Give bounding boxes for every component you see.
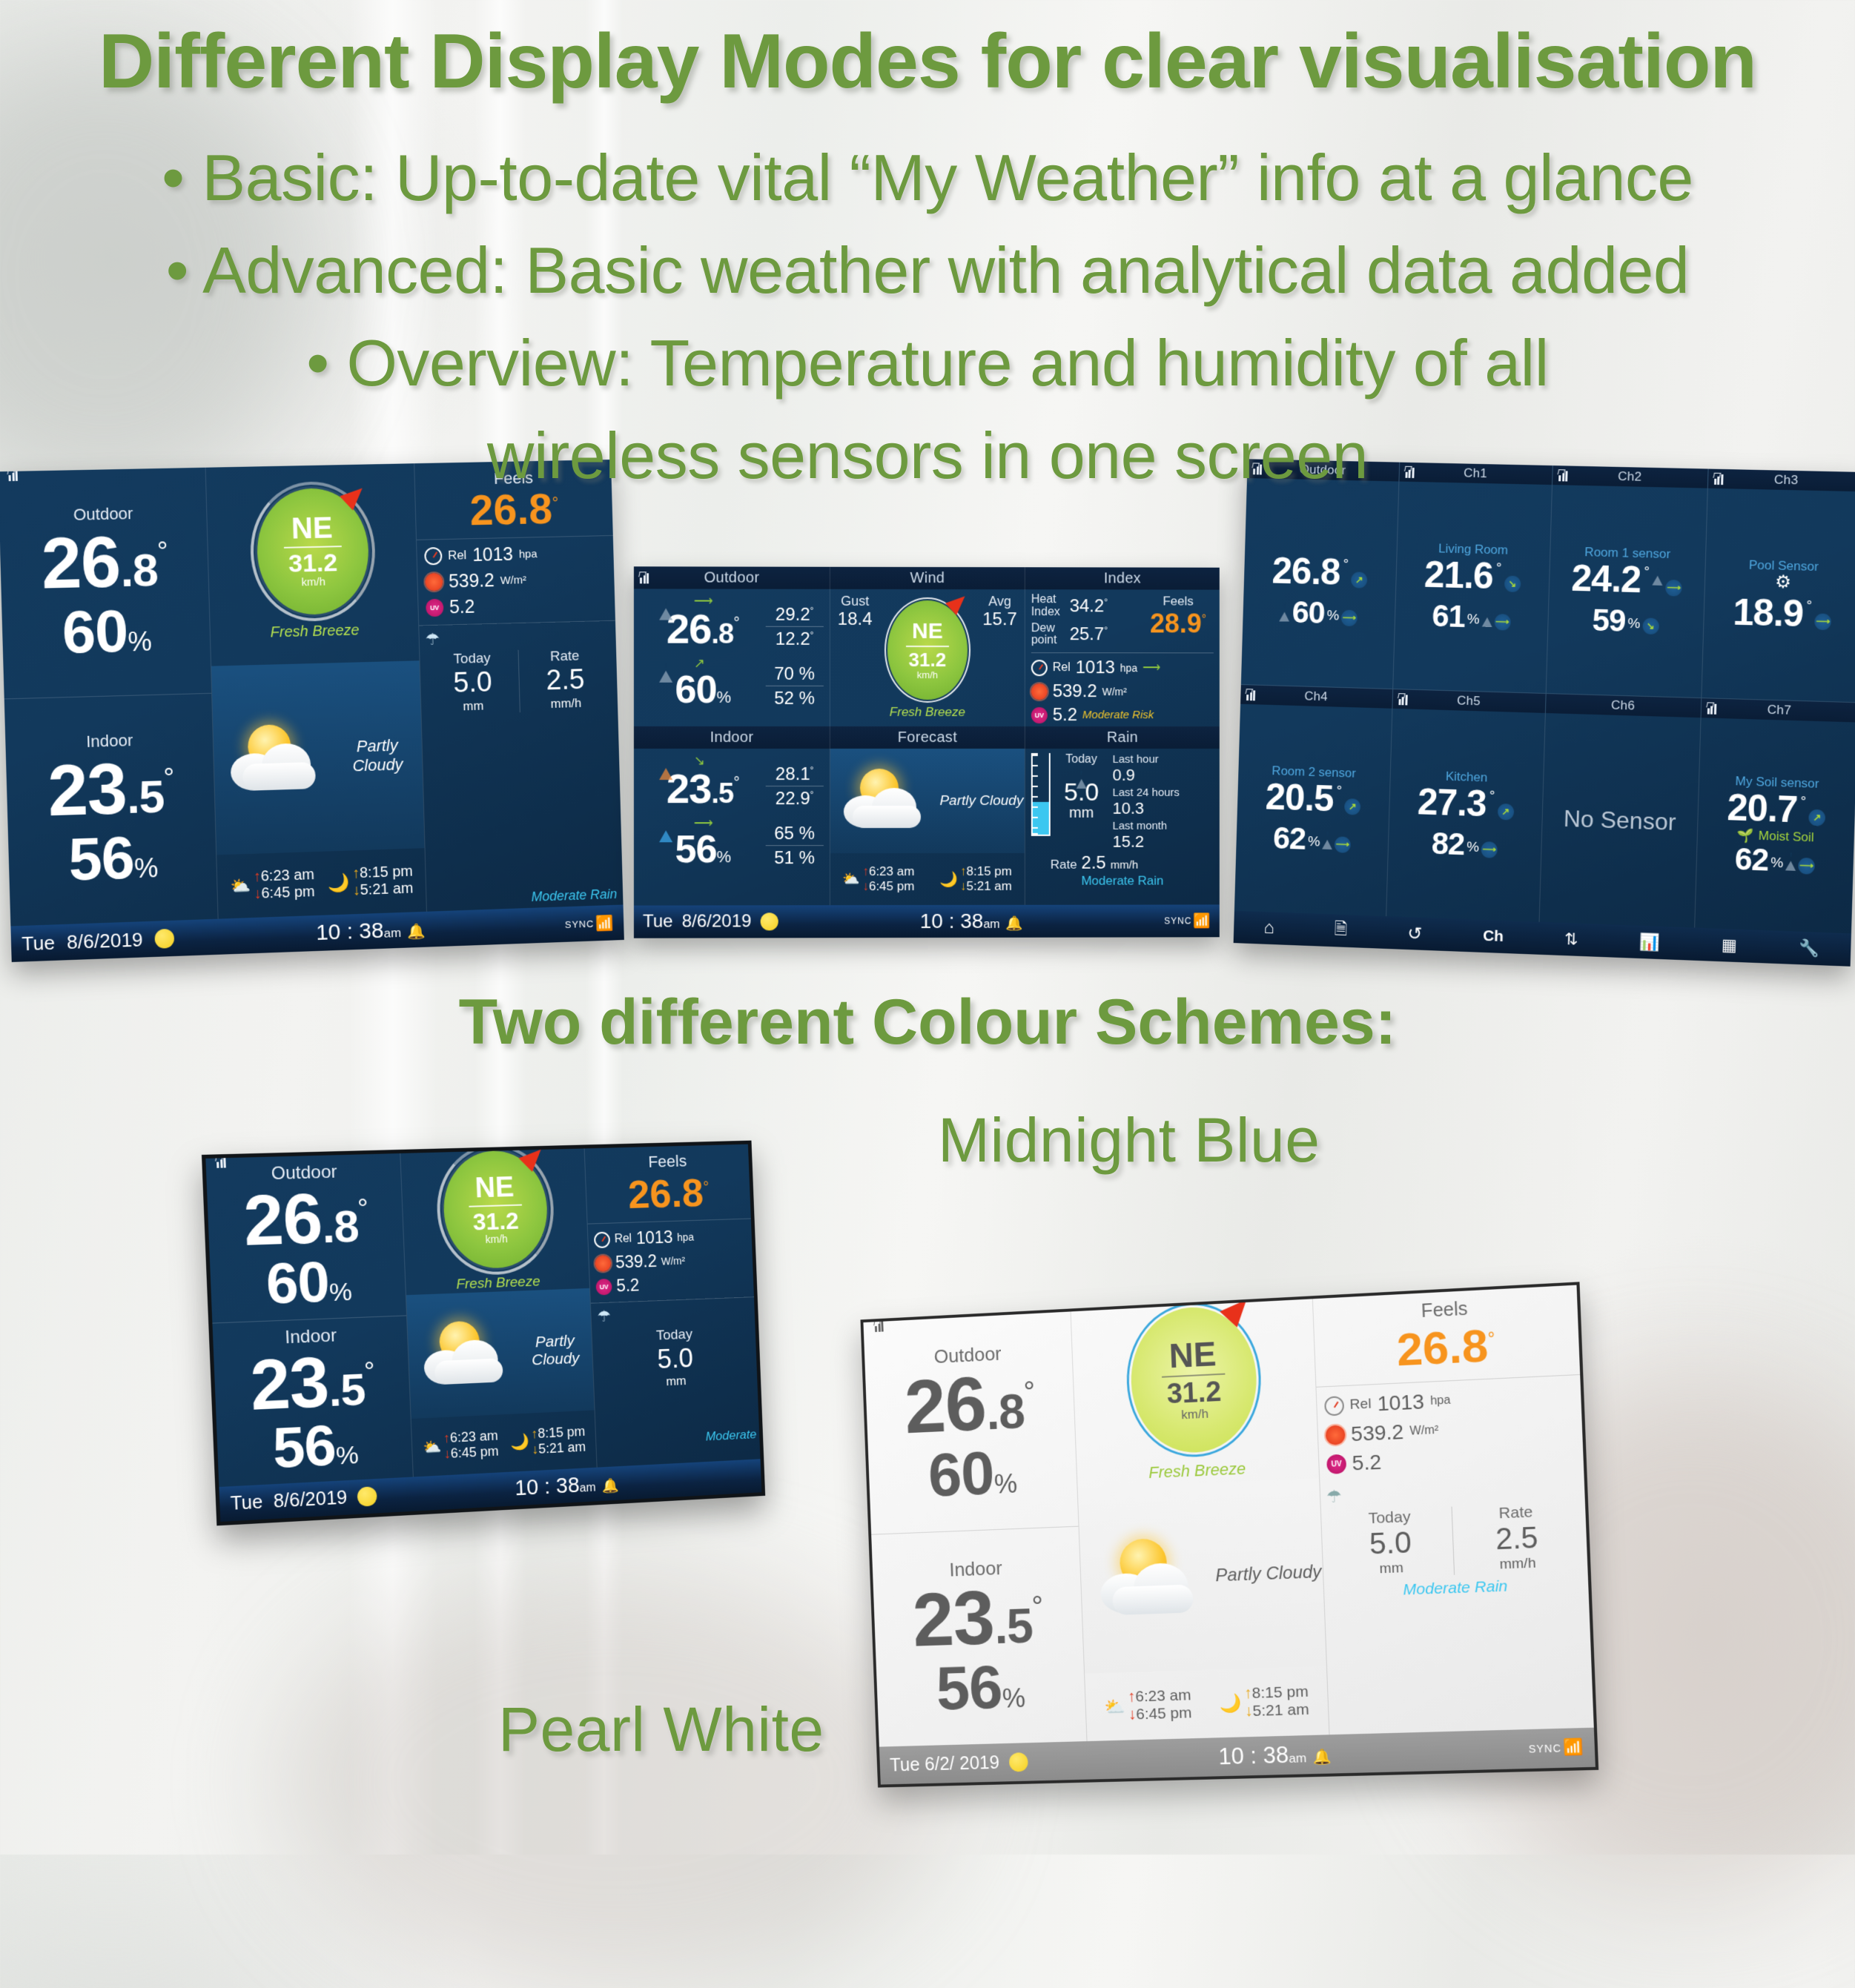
dew-point-label: Dew point	[1031, 623, 1065, 648]
alarm-icon[interactable]: 🔔	[601, 1478, 619, 1494]
arrow-down-icon: ↓	[352, 882, 360, 898]
barometer-icon	[594, 1231, 610, 1248]
sunrise-time: 6:23 am	[869, 864, 914, 878]
tile-humidity: 82	[1431, 828, 1465, 860]
panel-title: Rain	[1107, 729, 1138, 746]
outdoor-temp-int: 26	[40, 522, 121, 603]
solar-icon	[1031, 683, 1048, 700]
panel-title: Index	[1104, 570, 1141, 587]
status-time: 10 : 38am 🔔	[174, 912, 566, 951]
panel-title: Wind	[910, 569, 945, 586]
panel-header-index: Index	[1025, 567, 1220, 589]
panel-wind: Gust 18.4 Avg 15.7 NE 31.2 km/h	[830, 589, 1025, 726]
uv-value: 5.2	[1053, 705, 1077, 726]
panel-title: Indoor	[710, 729, 754, 746]
moon-times: 🌙 ↑8:15 pm ↓5:21 am	[509, 1424, 586, 1459]
sensor-tile-ch4[interactable]: Ch4 Room 2 sensor 20.5 ° ↗ 62 % ! ⟶	[1234, 685, 1393, 916]
bullet-overview-cont: wireless sensors in one screen	[0, 410, 1855, 503]
outdoor-hum-unit: %	[128, 626, 151, 657]
history-search-icon[interactable]: 🗎	[1334, 917, 1348, 945]
sunrise-time: 6:23 am	[1135, 1686, 1191, 1705]
sunset-time: 6:45 pm	[869, 879, 914, 893]
rain-today-value: 5.0	[1328, 1525, 1454, 1563]
moonrise-time: 8:15 pm	[1251, 1683, 1309, 1702]
hum-value: 56	[675, 828, 716, 871]
moonrise-time: 8:15 pm	[360, 864, 413, 881]
outdoor-humidity: 60%	[927, 1440, 1017, 1505]
mb-middle-column: NE 31.2 km/h Fresh Breeze Partly Cloudy	[401, 1148, 598, 1477]
degree-symbol: °	[1644, 564, 1650, 580]
rain-description: Moderate Rain	[531, 887, 617, 905]
pressure-unit: hpa	[519, 548, 538, 560]
moon-phase-icon	[1009, 1752, 1028, 1772]
pw-right-column: Feels 26.8° Rel 1013 hpa 539.2 W/m²	[1313, 1285, 1594, 1735]
uv-icon: UV	[426, 599, 443, 617]
arrow-up-icon: ↑	[352, 865, 360, 881]
midnight-screen: Outdoor 26.8° 60% Indoor 23.5° 56%	[205, 1144, 761, 1522]
indoor-temp-low: 22.9°	[766, 786, 824, 809]
outdoor-hum-value: 60	[62, 597, 129, 666]
time-hours: 10	[920, 909, 943, 932]
sun-times: ⛅ ↑6:23 am ↓6:45 pm	[1104, 1686, 1192, 1724]
background-blob-bottom	[282, 1573, 949, 1988]
uv-value: 5.2	[616, 1276, 640, 1296]
wind-dial[interactable]: NE 31.2 km/h	[1128, 1305, 1259, 1456]
advanced-screen: Outdoor Wind Index ! ⟶ 26.8°	[634, 566, 1220, 938]
trend-up-icon: ↗	[1808, 809, 1825, 826]
avg-value: 15.7	[982, 609, 1017, 630]
uv-value: 5.2	[449, 597, 475, 619]
panel-title: Outdoor	[704, 569, 760, 586]
rain-last-month-value: 15.2	[1112, 832, 1213, 852]
arrow-down-icon: ↓	[960, 879, 966, 893]
forecast-description: Partly Cloudy	[332, 735, 422, 776]
degree-symbol: °	[1031, 1590, 1043, 1623]
status-day: Tue	[643, 912, 673, 932]
tile-channel: Ch4	[1304, 689, 1328, 704]
moon-phase-icon	[154, 929, 174, 949]
basic-middle-column: NE 31.2 km/h Fresh Breeze Partly Cloudy	[206, 463, 427, 918]
pressure-prefix: Rel	[614, 1232, 632, 1246]
temp-int: 23	[667, 765, 712, 812]
status-date: 8/6/2019	[273, 1487, 348, 1513]
trend-steady-icon: ⟶	[1494, 614, 1511, 631]
indoor-humidity: 56%	[67, 826, 158, 889]
sunset-time: 6:45 pm	[450, 1444, 499, 1461]
alarm-icon[interactable]: 🔔	[1312, 1749, 1332, 1766]
heat-index-label: Heat Index	[1031, 594, 1065, 619]
indoor-temperature: 23.5°	[47, 752, 175, 827]
alert-icon: !	[1785, 848, 1796, 862]
pressure-value: 1013	[472, 544, 514, 566]
display-overview-mode: Outdoor 26.8 ° ↗ ! 60 % ⟶	[1234, 459, 1855, 967]
indoor-label: Indoor	[86, 731, 133, 752]
rain-rate-unit: mm/h	[520, 695, 612, 712]
label-pearl-white: Pearl White	[498, 1694, 824, 1766]
trend-steady-icon: ⟶	[1798, 857, 1815, 874]
degree-symbol: °	[1489, 789, 1495, 805]
solar-value: 539.2	[1053, 681, 1097, 702]
uv-icon: UV	[596, 1278, 612, 1295]
rain-today-label: Today	[1055, 753, 1108, 766]
outdoor-hum-high: 70 %	[766, 664, 824, 686]
degree-symbol: °	[1800, 794, 1806, 810]
status-date: 8/6/2019	[682, 911, 752, 932]
sunrise-time: 6:23 am	[260, 867, 314, 884]
outdoor-humidity: 60%	[265, 1253, 351, 1313]
trend-steady-icon: ⟶	[1341, 609, 1358, 626]
alert-icon: !	[659, 755, 672, 769]
alert-icon: !	[659, 595, 672, 609]
rain-last24-value: 10.3	[1112, 799, 1213, 818]
time-minutes: 38	[960, 909, 983, 932]
wind-dial-ring	[1124, 1300, 1264, 1460]
wind-description: Fresh Breeze	[890, 705, 965, 720]
time-ampm: am	[1289, 1751, 1306, 1766]
settings-icon[interactable]: 🔧	[1799, 938, 1820, 958]
sunset-time: 6:45 pm	[1136, 1704, 1192, 1723]
tile-humidity: 61	[1432, 600, 1466, 632]
pressure-unit: hpa	[1430, 1394, 1451, 1408]
sensor-tile-ch3[interactable]: Ch3 Pool Sensor ⚙ 18.9 ° ⟶	[1702, 469, 1855, 703]
pressure-prefix: Rel	[1349, 1396, 1372, 1413]
panel-title: Forecast	[898, 729, 957, 746]
bullet-overview: • Overview: Temperature and humidity of …	[0, 317, 1855, 410]
sunrise-sunset-icon: ⛅	[1104, 1696, 1125, 1717]
heat-index-value: 34.2°	[1070, 596, 1108, 617]
degree-symbol: °	[1023, 1375, 1035, 1408]
outdoor-label: Outdoor	[73, 503, 133, 524]
moonrise-time: 8:15 pm	[538, 1424, 586, 1441]
pw-left-column: Outdoor 26.8° 60% Indoor 23.5° 56%	[863, 1311, 1087, 1746]
tile-humidity-unit: %	[1467, 612, 1479, 628]
time-separator: :	[1250, 1743, 1257, 1769]
sensor-tile-ch6[interactable]: Ch6 No Sensor	[1540, 694, 1702, 928]
solar-unit: W/m²	[1102, 686, 1127, 698]
time-minutes: 38	[555, 1473, 580, 1497]
moonset-time: 5:21 am	[967, 879, 1012, 893]
status-date: Tue 6/2/ 2019	[890, 1752, 1000, 1776]
degree-symbol: °	[1806, 597, 1812, 614]
rain-description: Moderate Rain	[1330, 1575, 1583, 1602]
panel-outdoor: ! ⟶ 26.8° 29.2° 12.2°	[634, 589, 830, 726]
wifi-icon: 📶	[595, 913, 614, 932]
sunrise-time: 6:23 am	[450, 1428, 499, 1445]
channel-button[interactable]: Ch	[1483, 927, 1504, 946]
trend-down-icon: ↘	[1642, 617, 1659, 634]
degree-symbol: °	[733, 614, 739, 632]
minmax-icon[interactable]: ⇅	[1564, 930, 1578, 950]
alert-icon: !	[1653, 563, 1664, 576]
partly-cloudy-icon	[220, 712, 334, 805]
trend-up-icon: ↗	[1344, 798, 1360, 815]
tile-temperature: 20.5	[1265, 778, 1334, 818]
feels-value: 28.9°	[1143, 609, 1214, 638]
alert-icon: !	[659, 657, 672, 671]
hum-unit: %	[717, 688, 731, 706]
arrow-down-icon: ↓	[862, 879, 869, 893]
tile-channel: Ch7	[1767, 703, 1791, 718]
umbrella-icon: ☂	[597, 1302, 749, 1326]
overview-screen: Outdoor 26.8 ° ↗ ! 60 % ⟶	[1234, 459, 1855, 967]
moon-times: 🌙 ↑8:15 pm ↓5:21 am	[1219, 1683, 1309, 1722]
pw-middle-column: NE 31.2 km/h Fresh Breeze Partly Cloudy	[1071, 1299, 1330, 1741]
display-basic-mode: Outdoor 26.8° 60% Indoor 23.5° 56%	[0, 460, 624, 962]
graph-icon[interactable]: 📊	[1639, 932, 1660, 952]
alert-icon: !	[1077, 766, 1087, 780]
pool-sensor-icon: ⚙	[1775, 573, 1792, 592]
outdoor-temperature: 26.8°	[40, 526, 168, 600]
degree-symbol: °	[363, 1356, 374, 1386]
outdoor-temp-high: 29.2°	[766, 605, 824, 627]
status-date: 8/6/2019	[67, 928, 143, 954]
tile-temperature: 21.6	[1424, 555, 1493, 594]
pressure-value: 1013	[1076, 657, 1115, 678]
indoor-temperature: 23.5°	[911, 1577, 1044, 1657]
pressure-prefix: Rel	[1053, 661, 1071, 675]
marketing-copy-block: Different Display Modes for clear visual…	[0, 0, 1855, 503]
pressure-prefix: Rel	[448, 549, 467, 563]
wind-description: Fresh Breeze	[1148, 1459, 1246, 1483]
tile-humidity-unit: %	[1326, 608, 1339, 624]
tile-humidity-unit: %	[1770, 855, 1784, 872]
sunrise-sunset-icon: ⛅	[423, 1437, 442, 1457]
indoor-temp-int: 23	[47, 749, 128, 831]
trend-steady-icon: ⟶	[1335, 836, 1351, 853]
outdoor-temp-low: 12.2°	[766, 627, 824, 650]
degree-symbol: °	[357, 1193, 368, 1224]
section-title-colour-schemes: Two different Colour Schemes:	[0, 986, 1855, 1059]
tile-channel: Ch5	[1457, 693, 1481, 709]
forecast-description: Partly Cloudy	[518, 1331, 592, 1370]
solar-value: 539.2	[615, 1251, 657, 1273]
outdoor-temperature: 26.8°	[242, 1182, 369, 1257]
tile-humidity: 62	[1273, 823, 1306, 855]
alert-icon: !	[1482, 604, 1492, 617]
tile-channel: Ch6	[1611, 698, 1636, 714]
sunrise-sunset-icon: ⛅	[230, 876, 251, 896]
wifi-icon: 📶	[1564, 1738, 1584, 1757]
degree-symbol: °	[1496, 560, 1502, 577]
bullet-basic: • Basic: Up-to-date vital “My Weather” i…	[0, 132, 1855, 225]
solar-icon	[425, 573, 443, 591]
moon-icon: 🌙	[1219, 1692, 1242, 1714]
pearl-screen: Outdoor 26.8° 60% Indoor 23.5° 56%	[863, 1285, 1595, 1785]
time-hours: 10	[1218, 1743, 1245, 1769]
sync-label: SYNC	[1164, 915, 1191, 926]
moon-icon: 🌙	[939, 869, 958, 888]
forecast-description: Partly Cloudy	[1214, 1562, 1323, 1586]
indoor-hum-value: 56	[67, 824, 135, 892]
degree-symbol: °	[163, 762, 174, 793]
uv-risk-label: Moderate Risk	[1082, 709, 1154, 721]
sunrise-sunset-icon: ⛅	[843, 870, 861, 888]
tile-temperature: 26.8	[1272, 551, 1340, 590]
wind-description: Fresh Breeze	[270, 622, 359, 641]
moonset-time: 5:21 am	[1252, 1701, 1309, 1720]
solar-value: 539.2	[449, 570, 495, 592]
moon-icon: 🌙	[327, 872, 350, 894]
tile-humidity-unit: %	[1308, 834, 1320, 850]
barometer-icon	[1031, 660, 1048, 676]
time-ampm: am	[983, 918, 999, 931]
partly-cloudy-icon	[1088, 1526, 1217, 1630]
rain-rate-label: Rate	[1051, 858, 1077, 872]
basic-left-column: Outdoor 26.8° 60% Indoor 23.5° 56%	[0, 468, 219, 927]
display-advanced-mode: Outdoor Wind Index ! ⟶ 26.8°	[634, 566, 1220, 938]
panel-header-outdoor: Outdoor	[634, 566, 830, 589]
alert-icon: !	[1322, 827, 1332, 841]
home-icon[interactable]: ⌂	[1263, 918, 1274, 938]
moonset-time: 5:21 am	[360, 881, 413, 898]
tile-temperature: 24.2	[1571, 559, 1641, 597]
panel-header-indoor: Indoor	[634, 726, 830, 749]
trend-up-icon: ↗	[1351, 571, 1367, 588]
alert-icon: !	[1280, 599, 1290, 612]
rain-today-unit: mm	[1055, 805, 1108, 822]
panel-index: Heat Index 34.2° Dew point 25.7° Feels 2…	[1025, 589, 1220, 726]
temp-dec: .5	[711, 778, 733, 809]
pressure-unit: hpa	[677, 1230, 694, 1243]
indoor-temp-high: 28.1°	[766, 764, 824, 786]
rain-rate-unit: mm/h	[1111, 859, 1138, 872]
indoor-hum-unit: %	[133, 852, 157, 884]
gust-label: Gust	[838, 594, 873, 609]
time-hours: 10	[515, 1475, 539, 1500]
panel-header-rain: Rain	[1025, 726, 1220, 749]
feature-bullet-list: • Basic: Up-to-date vital “My Weather” i…	[0, 132, 1855, 503]
time-minutes: 38	[1263, 1742, 1289, 1769]
barometer-icon	[1324, 1396, 1344, 1416]
rain-last24-label: Last 24 hours	[1112, 786, 1213, 799]
rain-rate-value: 2.5	[519, 663, 612, 698]
sensor-tile-ch7[interactable]: Ch7 My Soil sensor 20.7 ° ↗ 🌱 Moist Soil…	[1695, 698, 1855, 933]
page-title: Different Display Modes for clear visual…	[0, 0, 1855, 101]
time-hours: 10	[316, 920, 341, 945]
time-separator: :	[346, 919, 353, 944]
rain-last-hour-label: Last hour	[1112, 753, 1213, 766]
pressure-unit: hpa	[1120, 662, 1137, 674]
degree-symbol: °	[703, 1179, 710, 1196]
solar-unit: W/m²	[661, 1254, 685, 1267]
wind-dial[interactable]: NE 31.2 km/h	[887, 600, 968, 700]
tile-no-sensor-label: No Sensor	[1563, 804, 1676, 835]
sun-times: ⛅ ↑6:23 am ↓6:45 pm	[843, 864, 915, 894]
mb-left-column: Outdoor 26.8° 60% Indoor 23.5° 56%	[205, 1153, 414, 1487]
indoor-humidity: 56%	[935, 1654, 1025, 1718]
label-midnight-blue: Midnight Blue	[938, 1104, 1320, 1176]
arrow-up-icon: ↑	[960, 864, 966, 878]
feels-temperature: 26.8°	[593, 1169, 744, 1219]
rain-today-value: 5.0	[426, 666, 520, 700]
refresh-icon[interactable]: ↺	[1407, 923, 1423, 945]
alarm-icon[interactable]: 🔔	[1005, 916, 1023, 932]
sync-label: SYNC	[565, 918, 595, 930]
tile-temperature: 18.9	[1733, 593, 1804, 632]
degree-symbol: °	[733, 774, 739, 792]
trend-steady-icon: ⟶	[1814, 613, 1831, 630]
time-ampm: am	[383, 926, 401, 941]
basic-screen: Outdoor 26.8° 60% Indoor 23.5° 56%	[0, 460, 624, 962]
indoor-temperature: 23.5°	[249, 1345, 376, 1421]
tile-humidity-unit: %	[1467, 839, 1479, 856]
uv-icon: UV	[1326, 1454, 1346, 1474]
sensor-tile-ch5[interactable]: Ch5 Kitchen 27.3 ° ↗ 82 % ⟶	[1386, 689, 1547, 922]
hum-value: 60	[675, 669, 716, 712]
tile-temperature: 20.7	[1727, 788, 1798, 827]
alarm-icon[interactable]: 🔔	[407, 924, 426, 941]
sun-times: ⛅ ↑6:23 am ↓6:45 pm	[423, 1428, 499, 1463]
trend-steady-icon: ⟶	[1665, 579, 1682, 596]
moon-times: 🌙 ↑8:15 pm ↓5:21 am	[939, 864, 1012, 894]
moon-phase-icon	[761, 912, 778, 930]
display-midnight-blue: Outdoor 26.8° 60% Indoor 23.5° 56%	[202, 1141, 765, 1526]
degree-symbol: °	[1343, 557, 1349, 573]
gust-value: 18.4	[838, 609, 873, 630]
sensor-grid: Outdoor 26.8 ° ↗ ! 60 % ⟶	[1234, 459, 1855, 933]
status-time: 10 : 38am 🔔	[1028, 1735, 1529, 1775]
uv-value: 5.2	[1352, 1451, 1382, 1476]
rain-description: Moderate	[705, 1427, 756, 1444]
wind-dial[interactable]: NE 31.2 km/h	[255, 487, 369, 615]
partly-cloudy-icon	[835, 762, 939, 839]
feels-label: Feels	[1143, 594, 1214, 609]
calendar-icon[interactable]: ▦	[1722, 935, 1738, 955]
degree-symbol: °	[1336, 783, 1342, 800]
hum-unit: %	[717, 847, 731, 866]
trend-steady-icon: ⟶	[1481, 841, 1498, 858]
sun-times: ⛅ ↑6:23 am ↓6:45 pm	[230, 867, 315, 904]
rain-today-unit: mm	[427, 698, 520, 715]
indoor-humidity: 56%	[271, 1416, 358, 1477]
moon-icon: 🌙	[510, 1434, 530, 1452]
moon-times: 🌙 ↑8:15 pm ↓5:21 am	[327, 864, 414, 901]
outdoor-temperature: 26.8°	[903, 1363, 1036, 1445]
trend-up-icon: ↗	[1498, 804, 1515, 821]
rain-last-month-label: Last month	[1112, 820, 1213, 832]
trend-steady-icon: ⟶	[1143, 660, 1160, 675]
wind-dial[interactable]: NE 31.2 km/h	[441, 1150, 549, 1270]
panel-header-forecast: Forecast	[830, 726, 1025, 749]
temp-dec: .8	[711, 619, 733, 650]
degree-symbol: °	[1487, 1329, 1495, 1349]
indoor-temp-dec: .5	[126, 771, 165, 824]
partly-cloudy-icon	[413, 1312, 520, 1398]
basic-right-column: Feels 26.8° Rel 1013 hpa 5	[414, 460, 624, 912]
solar-unit: W/m²	[500, 574, 526, 587]
display-pearl-white: Outdoor 26.8° 60% Indoor 23.5° 56%	[860, 1282, 1598, 1787]
sunset-time: 6:45 pm	[261, 884, 315, 901]
tile-humidity: 62	[1734, 843, 1769, 875]
moon-phase-icon	[357, 1486, 377, 1507]
indoor-hum-high: 65 %	[766, 824, 824, 846]
barometer-icon	[424, 547, 442, 565]
tile-temperature: 27.3	[1417, 783, 1487, 822]
moonset-time: 5:21 am	[538, 1439, 586, 1457]
arrow-up-icon: ↑	[862, 864, 869, 878]
time-separator: :	[543, 1474, 550, 1498]
umbrella-icon: ☂	[425, 626, 610, 649]
tile-humidity: 60	[1292, 597, 1325, 629]
tile-humidity-unit: %	[1627, 615, 1641, 632]
panel-rain: Today ! 5.0 mm Last hour 0.9 Last 24 hou…	[1025, 749, 1220, 905]
alert-icon: !	[659, 818, 672, 831]
outdoor-humidity: 60%	[62, 600, 152, 663]
status-day: Tue	[230, 1491, 263, 1515]
solar-icon	[1325, 1425, 1345, 1445]
dew-point-value: 25.7°	[1070, 625, 1108, 646]
rain-gauge-icon	[1031, 753, 1051, 836]
